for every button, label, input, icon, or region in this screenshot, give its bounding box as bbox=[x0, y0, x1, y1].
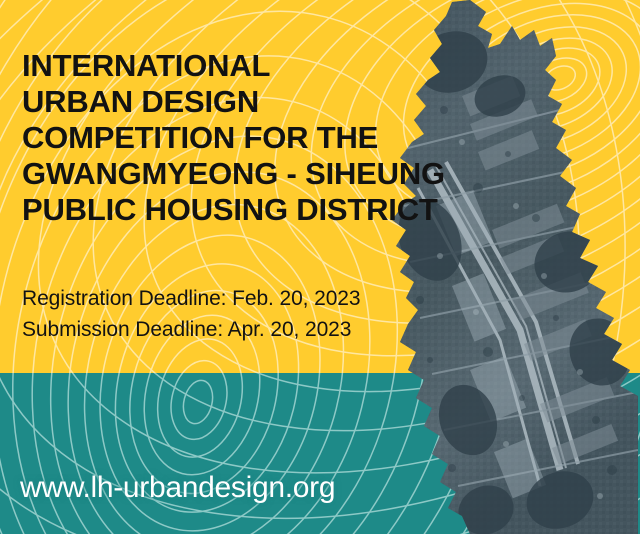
registration-deadline: Registration Deadline: Feb. 20, 2023 bbox=[22, 283, 452, 314]
submission-deadline: Submission Deadline: Apr. 20, 2023 bbox=[22, 314, 452, 345]
deadline-list: Registration Deadline: Feb. 20, 2023 Sub… bbox=[22, 283, 452, 345]
website-url[interactable]: www.lh-urbandesign.org bbox=[20, 470, 335, 506]
teal-background-band bbox=[0, 373, 640, 534]
competition-poster: INTERNATIONAL URBAN DESIGN COMPETITION F… bbox=[0, 0, 640, 534]
page-title: INTERNATIONAL URBAN DESIGN COMPETITION F… bbox=[22, 48, 452, 228]
